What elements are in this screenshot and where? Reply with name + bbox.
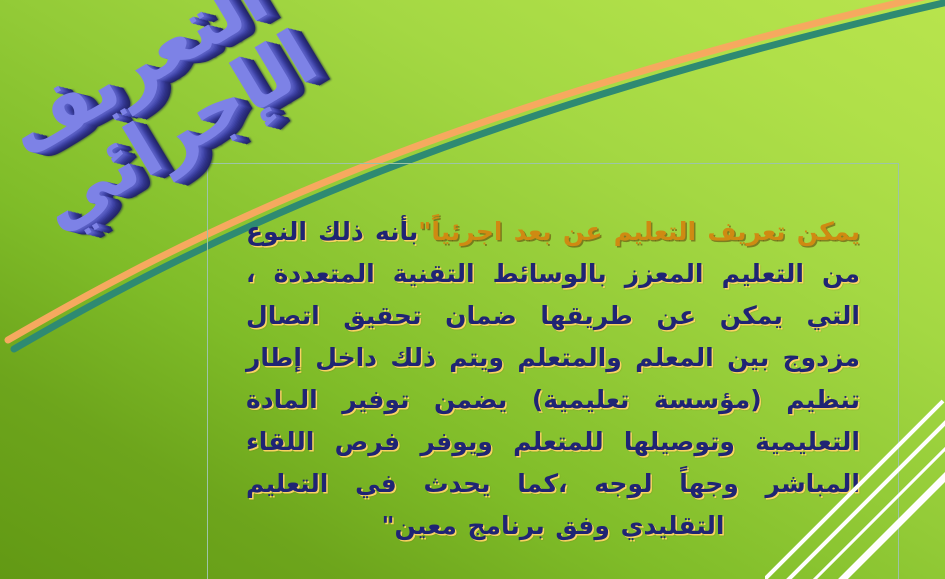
definition-text: بأنه ذلك النوع من التعليم المعزز بالوسائ… [246, 217, 860, 540]
slide-body-paragraph: يمكن تعريف التعليم عن بعد اجرئياً"بأنه ذ… [246, 211, 860, 547]
quote-open-mark: " [418, 217, 431, 246]
quote-close-mark: " [381, 511, 394, 540]
definition-highlight: يمكن تعريف التعليم عن بعد اجرئياً [431, 217, 860, 246]
presentation-slide: التعريف الإجرائي يمكن تعريف التعليم عن ب… [0, 0, 945, 579]
